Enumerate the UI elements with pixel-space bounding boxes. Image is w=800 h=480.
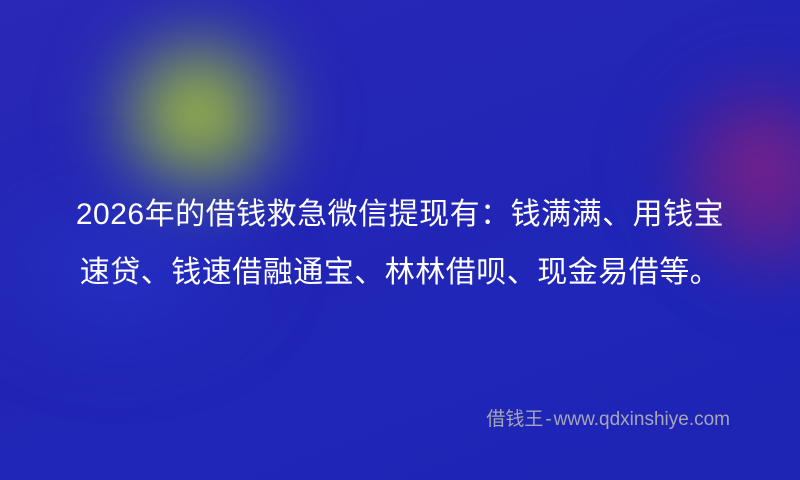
promo-banner: 2026年的借钱救急微信提现有：钱满满、用钱宝 速贷、钱速借融通宝、林林借呗、现…	[0, 0, 800, 480]
watermark-brand: 借钱王	[486, 409, 543, 430]
watermark-url: www.qdxinshiye.com	[554, 409, 730, 430]
headline-line-1: 2026年的借钱救急微信提现有：钱满满、用钱宝	[0, 186, 800, 244]
watermark-separator: -	[543, 409, 553, 430]
headline-line-2: 速贷、钱速借融通宝、林林借呗、现金易借等。	[0, 244, 800, 302]
headline-text: 2026年的借钱救急微信提现有：钱满满、用钱宝 速贷、钱速借融通宝、林林借呗、现…	[0, 186, 800, 302]
watermark: 借钱王-www.qdxinshiye.com	[0, 407, 730, 433]
